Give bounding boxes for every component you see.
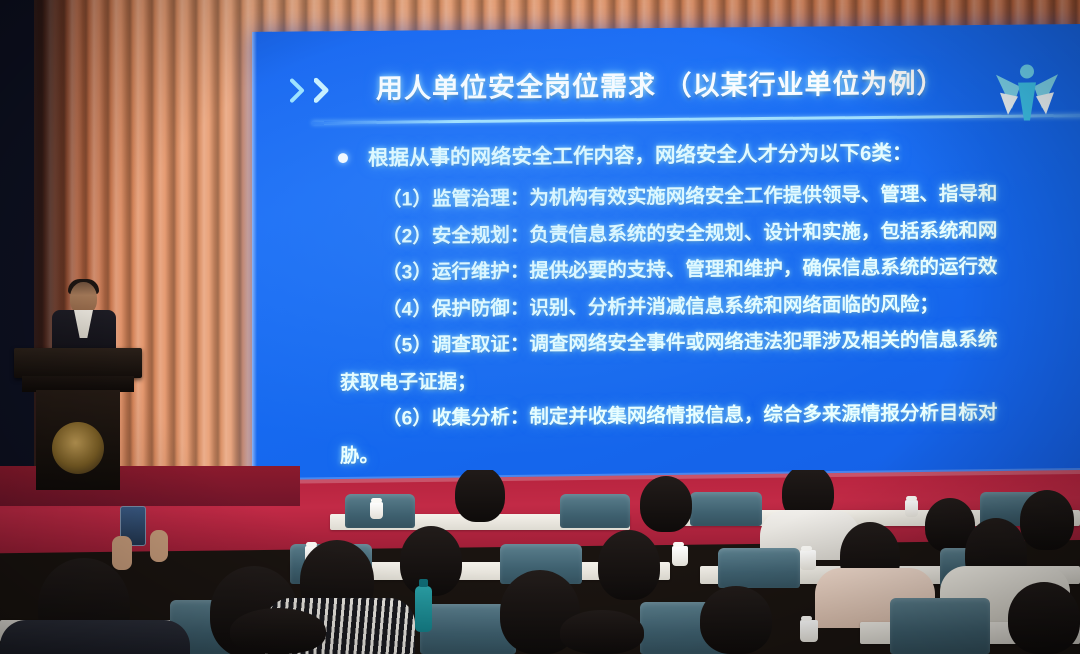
- raised-hand: [112, 536, 132, 570]
- slide-lead-line: 根据从事的网络安全工作内容，网络安全人才分为以下6类：: [338, 132, 1080, 179]
- projection-screen: 用人单位安全岗位需求 （以某行业单位为例） 根据从事的网络安全工作内容，网络安全…: [252, 24, 1080, 494]
- audience-head: [598, 530, 660, 600]
- audience-shoulders: [0, 620, 190, 654]
- tea-cup: [672, 546, 688, 566]
- audience-head: [230, 608, 326, 654]
- butterfly-y-logo-icon: [990, 62, 1064, 125]
- water-bottle: [415, 586, 432, 632]
- title-underline: [312, 114, 1080, 125]
- podium: [14, 330, 142, 490]
- double-chevron-right-icon: [290, 77, 336, 103]
- bullet-dot-icon: [338, 153, 348, 163]
- tea-cup: [800, 620, 818, 642]
- slide-item-6-continuation: 胁。: [340, 431, 1080, 475]
- chair: [690, 492, 762, 526]
- tea-cup: [800, 550, 816, 570]
- slide-header: 用人单位安全岗位需求 （以某行业单位为例）: [290, 56, 1070, 127]
- chair: [560, 494, 630, 528]
- podium-emblem: [52, 422, 104, 474]
- audience-head: [400, 526, 462, 596]
- slide-lead-text: 根据从事的网络安全工作内容，网络安全人才分为以下6类：: [368, 142, 912, 170]
- audience-head: [455, 470, 505, 522]
- audience-head: [640, 476, 692, 532]
- audience-head: [1008, 582, 1080, 654]
- audience-area: [0, 470, 1080, 654]
- audience-head: [560, 610, 644, 654]
- tea-cup: [905, 500, 918, 517]
- podium-desktop: [14, 348, 142, 378]
- conference-photo: 用人单位安全岗位需求 （以某行业单位为例） 根据从事的网络安全工作内容，网络安全…: [0, 0, 1080, 654]
- slide-body: 根据从事的网络安全工作内容，网络安全人才分为以下6类： （1）监管治理：为机构有…: [252, 132, 1080, 475]
- chair: [718, 548, 800, 588]
- audience-head: [700, 586, 772, 654]
- chair: [890, 598, 990, 654]
- raised-hand: [150, 530, 168, 562]
- audience-head: [1020, 490, 1074, 550]
- slide-title: 用人单位安全岗位需求 （以某行业单位为例）: [376, 61, 945, 105]
- tea-cup: [370, 502, 383, 519]
